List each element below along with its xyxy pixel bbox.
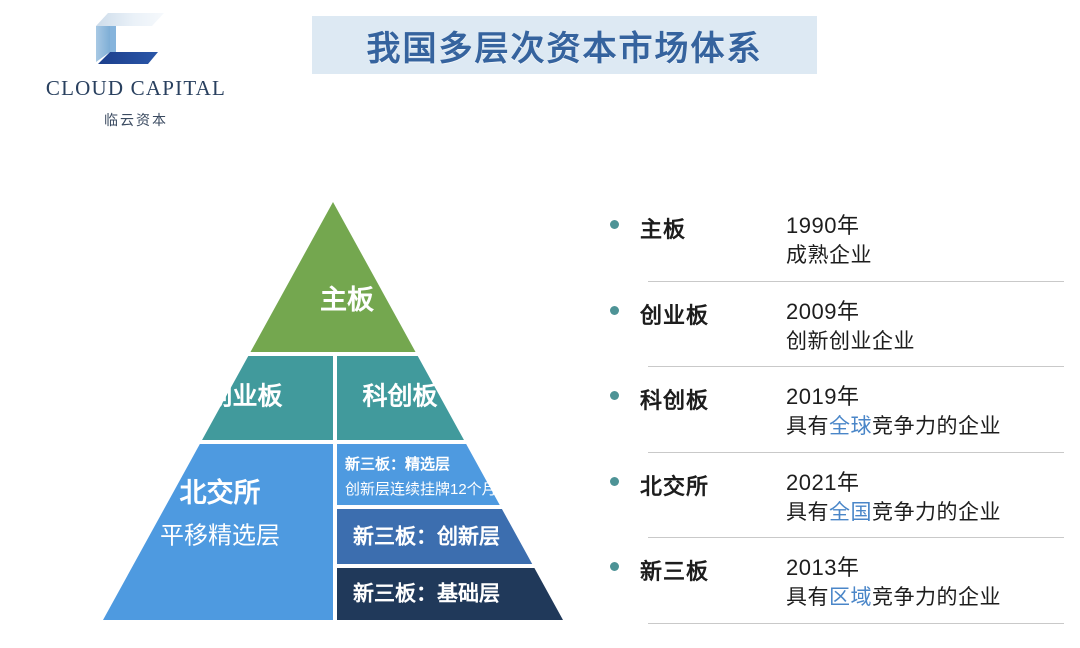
list-item: 新三板 2013年 具有区域竞争力的企业 [588,538,1066,624]
desc-highlight: 区域 [829,586,872,609]
list-item-name: 创业板 [640,294,786,330]
market-tier-list: 主板 1990年 成熟企业 创业板 2009年 创新创业企业 科创板 2019年… [588,196,1066,632]
list-item-detail: 2009年 创新创业企业 [786,294,1066,357]
pyramid-label-main-board: 主板 [320,285,374,315]
desc-post: 成熟企业 [786,244,872,267]
desc-pre: 具有 [786,586,829,609]
list-item-year: 2013年 [786,552,1066,583]
bullet-dot-icon [610,562,619,571]
brand-logo-block: CLOUD CAPITAL 临云资本 [36,4,236,130]
list-item-year: 2021年 [786,467,1066,498]
pyramid-tier-main-board [55,195,575,352]
list-item-detail: 2019年 具有全球竞争力的企业 [786,379,1066,442]
list-item-desc: 具有区域竞争力的企业 [786,583,1066,613]
bullet-dot-icon [610,391,619,400]
list-item: 北交所 2021年 具有全国竞争力的企业 [588,453,1066,539]
pyramid-svg: 主板 创业板 科创板 北交所 平移精选层 新三板：精选层 创新层连续挂牌12个月… [55,195,575,630]
desc-post: 竞争力的企业 [872,586,1001,609]
pyramid-tier-chinext [55,356,333,440]
pyramid-label-star: 科创板 [362,383,437,411]
list-item-name: 主板 [640,208,786,244]
list-item-detail: 2013年 具有区域竞争力的企业 [786,550,1066,613]
list-item-year: 2009年 [786,296,1066,327]
logo-subtitle: 临云资本 [36,110,236,130]
list-item-desc: 具有全球竞争力的企业 [786,412,1066,442]
bullet-dot-icon [610,477,619,486]
capital-market-pyramid: 主板 创业板 科创板 北交所 平移精选层 新三板：精选层 创新层连续挂牌12个月… [55,195,575,630]
list-item-name: 新三板 [640,550,786,586]
pyramid-label-chinext: 创业板 [206,383,282,411]
bullet-cell [588,208,640,229]
list-item: 创业板 2009年 创新创业企业 [588,282,1066,368]
desc-highlight: 全球 [829,415,872,438]
pyramid-sublabel-bse: 平移精选层 [160,522,280,549]
list-item-detail: 1990年 成熟企业 [786,208,1066,271]
pyramid-label-neeq-base: 新三板：基础层 [353,582,500,606]
list-item-desc: 创新创业企业 [786,327,1066,357]
row-separator [648,623,1064,624]
bullet-cell [588,550,640,571]
desc-pre: 具有 [786,415,829,438]
list-item-name: 科创板 [640,379,786,415]
pyramid-label-neeq-select: 新三板：精选层 [345,455,450,473]
list-item-year: 1990年 [786,210,1066,241]
pyramid-sublabel-neeq-select: 创新层连续挂牌12个月 [345,481,497,498]
bullet-dot-icon [610,306,619,315]
desc-post: 创新创业企业 [786,330,915,353]
pyramid-label-neeq-innovation: 新三板：创新层 [353,525,500,549]
page-title-band: 我国多层次资本市场体系 [312,16,817,74]
list-item-year: 2019年 [786,381,1066,412]
logo-wordmark: CLOUD CAPITAL [36,76,236,101]
list-item: 科创板 2019年 具有全球竞争力的企业 [588,367,1066,453]
desc-post: 竞争力的企业 [872,501,1001,524]
bullet-dot-icon [610,220,619,229]
list-item-desc: 成熟企业 [786,241,1066,271]
desc-post: 竞争力的企业 [872,415,1001,438]
desc-highlight: 全国 [829,501,872,524]
bullet-cell [588,465,640,486]
page-title: 我国多层次资本市场体系 [367,21,763,70]
bullet-cell [588,379,640,400]
list-item: 主板 1990年 成熟企业 [588,196,1066,282]
bullet-cell [588,294,640,315]
list-item-desc: 具有全国竞争力的企业 [786,498,1066,528]
desc-pre: 具有 [786,501,829,524]
list-item-name: 北交所 [640,465,786,501]
pyramid-label-bse: 北交所 [180,477,261,508]
list-item-detail: 2021年 具有全国竞争力的企业 [786,465,1066,528]
cloud-capital-cube-logo-icon [86,4,186,74]
